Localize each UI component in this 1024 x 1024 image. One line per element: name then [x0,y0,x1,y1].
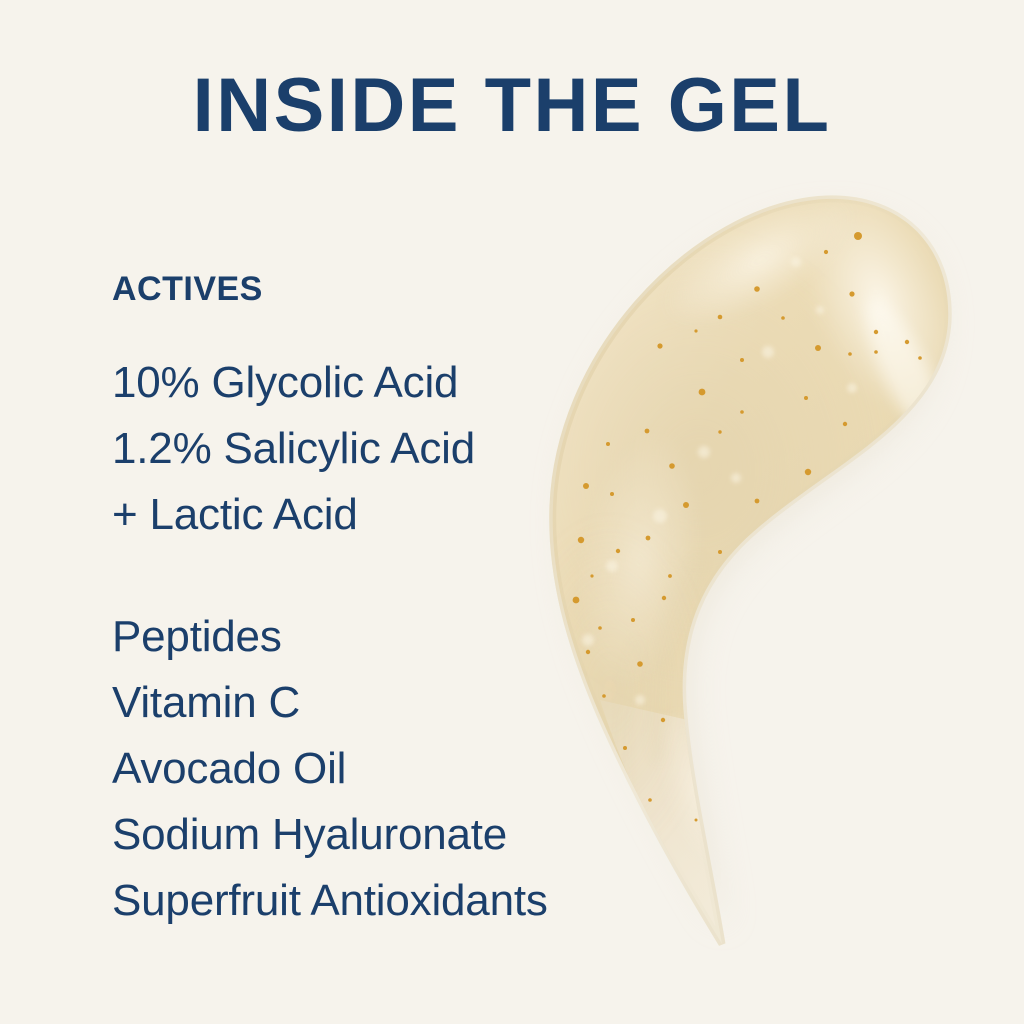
actives-heading: ACTIVES [112,272,672,306]
list-item: 10% Glycolic Acid [112,350,672,416]
list-item: Vitamin C [112,670,672,736]
page-title: INSIDE THE GEL [0,68,1024,144]
product-ingredient-graphic: INSIDE THE GEL ACTIVES 10% Glycolic Acid… [0,0,1024,1024]
list-item: + Lactic Acid [112,482,672,548]
actives-list: 10% Glycolic Acid 1.2% Salicylic Acid + … [112,350,672,548]
list-item: Sodium Hyaluronate [112,802,672,868]
list-item: Avocado Oil [112,736,672,802]
list-item: Superfruit Antioxidants [112,868,672,934]
ingredient-text-column: ACTIVES 10% Glycolic Acid 1.2% Salicylic… [112,272,672,934]
list-item: 1.2% Salicylic Acid [112,416,672,482]
supporting-ingredients-list: Peptides Vitamin C Avocado Oil Sodium Hy… [112,604,672,934]
list-item: Peptides [112,604,672,670]
